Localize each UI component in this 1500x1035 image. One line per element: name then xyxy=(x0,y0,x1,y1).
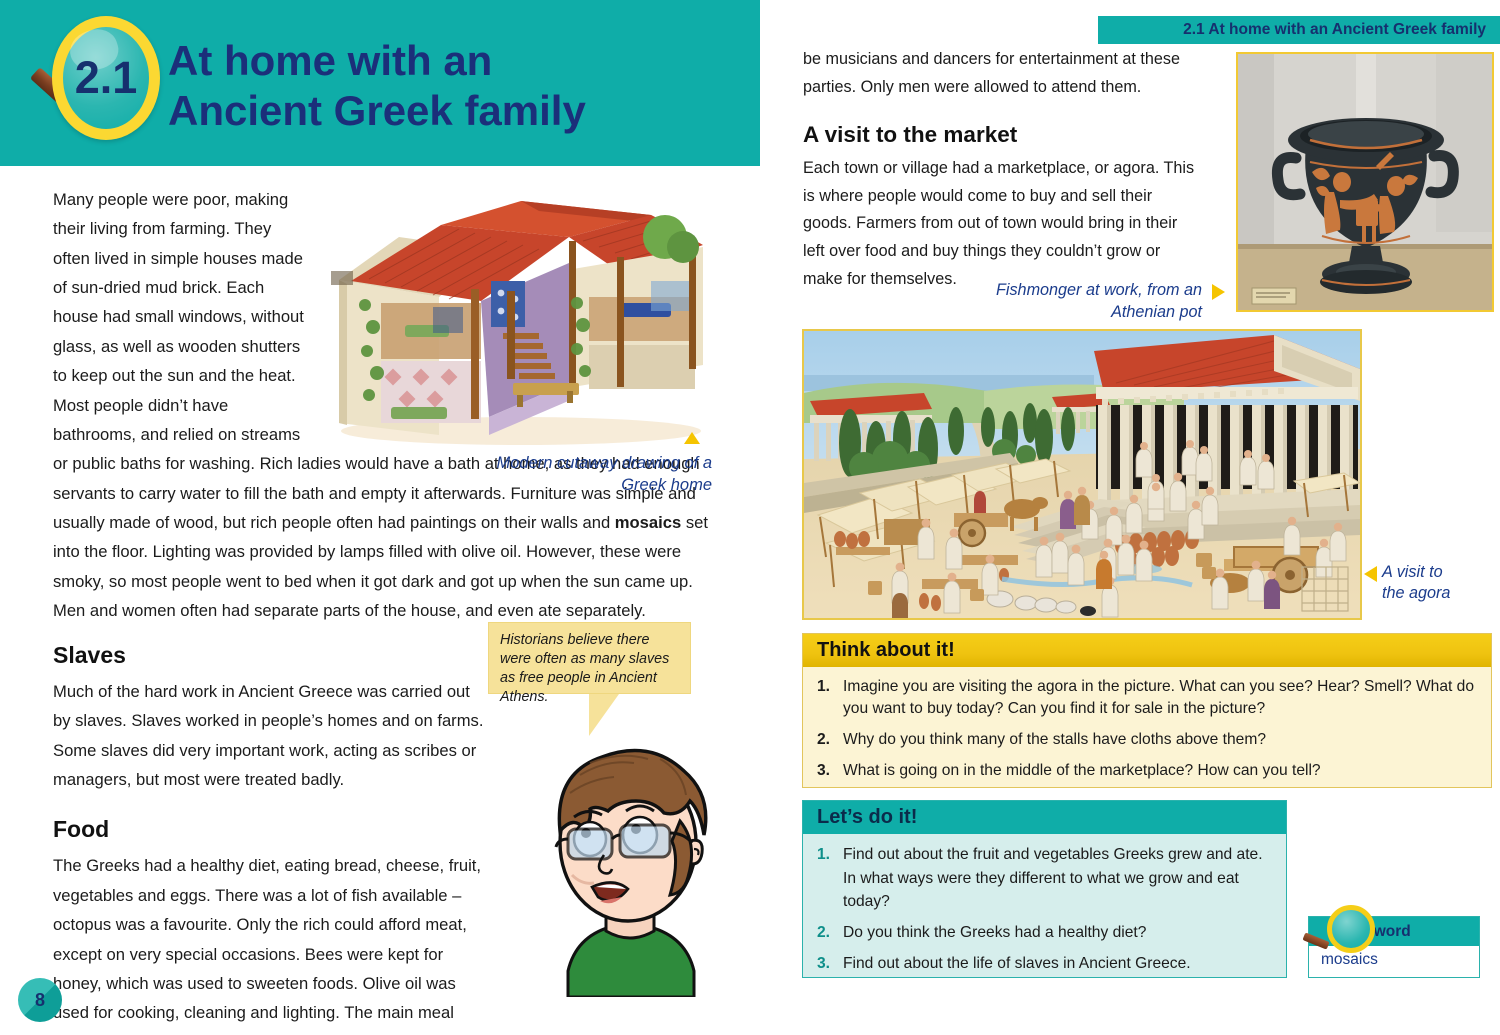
list-item-number: 1. xyxy=(817,676,843,720)
caption-triangle-right-icon xyxy=(1212,284,1225,300)
house-caption: Modern cutaway drawing of a Greek home xyxy=(452,452,712,497)
think-about-it-heading: Think about it! xyxy=(803,634,1491,667)
left-page: 2.1 At home with an Ancient Greek family xyxy=(0,0,760,1035)
think-about-it-list: 1. Imagine you are visiting the agora in… xyxy=(803,676,1491,783)
caption-triangle-up-icon xyxy=(684,432,700,444)
list-item: 2. Why do you think many of the stalls h… xyxy=(817,729,1475,751)
lets-do-it-list: 1. Find out about the fruit and vegetabl… xyxy=(803,843,1286,975)
textbook-spread: 2.1 At home with an Ancient Greek family xyxy=(0,0,1500,1035)
page-number-left: 8 xyxy=(18,978,62,1022)
right-page: 2.1 At home with an Ancient Greek family… xyxy=(760,0,1500,1035)
market-paragraph: Each town or village had a marketplace, … xyxy=(803,155,1203,294)
right-body-column: be musicians and dancers for entertainme… xyxy=(803,46,1203,294)
list-item-text: Why do you think many of the stalls have… xyxy=(843,729,1266,751)
magnifier-icon: 2.1 xyxy=(22,8,162,158)
page-title-line2: Ancient Greek family xyxy=(168,86,728,136)
caption-triangle-left-icon xyxy=(1364,566,1377,582)
list-item: 1. Imagine you are visiting the agora in… xyxy=(817,676,1475,720)
list-item-text: Imagine you are visiting the agora in th… xyxy=(843,676,1475,720)
list-item-number: 1. xyxy=(817,843,843,914)
food-heading: Food xyxy=(53,816,485,843)
think-about-it-box: Think about it! 1. Imagine you are visit… xyxy=(802,633,1492,788)
list-item-text: Do you think the Greeks had a healthy di… xyxy=(843,921,1146,945)
market-heading: A visit to the market xyxy=(803,122,1203,148)
speech-bubble: Historians believe there were often as m… xyxy=(488,622,691,694)
lets-do-it-box: Let’s do it! 1. Find out about the fruit… xyxy=(802,800,1287,978)
greek-home-cutaway-illustration xyxy=(321,185,713,447)
key-word-term: mosaics xyxy=(1309,946,1479,969)
chapter-header: 2.1 At home with an Ancient Greek family xyxy=(0,0,760,166)
keyword-mosaics-inline: mosaics xyxy=(615,513,681,532)
chapter-badge-number: 2.1 xyxy=(52,16,160,140)
list-item-text: What is going on in the middle of the ma… xyxy=(843,760,1321,782)
list-item-text: Find out about the fruit and vegetables … xyxy=(843,843,1270,914)
list-item-text: Find out about the life of slaves in Anc… xyxy=(843,952,1191,976)
speech-bubble-tail xyxy=(589,694,619,736)
cartoon-boy-with-glasses xyxy=(510,735,750,997)
list-item: 3. What is going on in the middle of the… xyxy=(817,760,1475,782)
pot-caption: Fishmonger at work, from an Athenian pot xyxy=(990,280,1202,323)
page-title: At home with an Ancient Greek family xyxy=(168,36,728,135)
agora-caption: A visit to the agora xyxy=(1382,562,1462,603)
running-header: 2.1 At home with an Ancient Greek family xyxy=(1098,16,1500,44)
athenian-red-figure-krater-photo xyxy=(1236,52,1494,312)
left-body-column: Many people were poor, making their livi… xyxy=(53,185,713,625)
magnifier-icon xyxy=(1327,905,1375,953)
list-item-number: 3. xyxy=(817,952,843,976)
page-title-line1: At home with an xyxy=(168,36,728,86)
lets-do-it-heading: Let’s do it! xyxy=(803,801,1286,834)
slaves-heading: Slaves xyxy=(53,642,485,669)
list-item: 1. Find out about the fruit and vegetabl… xyxy=(817,843,1270,914)
list-item: 2. Do you think the Greeks had a healthy… xyxy=(817,921,1270,945)
key-word-box: Key word mosaics xyxy=(1308,916,1480,978)
list-item-number: 2. xyxy=(817,921,843,945)
list-item-number: 2. xyxy=(817,729,843,751)
list-item: 3. Find out about the life of slaves in … xyxy=(817,952,1270,976)
ancient-greek-agora-illustration xyxy=(802,329,1362,620)
continued-paragraph: be musicians and dancers for entertainme… xyxy=(803,46,1203,102)
food-paragraph: The Greeks had a healthy diet, eating br… xyxy=(53,851,485,1035)
slaves-paragraph: Much of the hard work in Ancient Greece … xyxy=(53,677,485,794)
left-lower-column: Slaves Much of the hard work in Ancient … xyxy=(53,620,485,1035)
list-item-number: 3. xyxy=(817,760,843,782)
